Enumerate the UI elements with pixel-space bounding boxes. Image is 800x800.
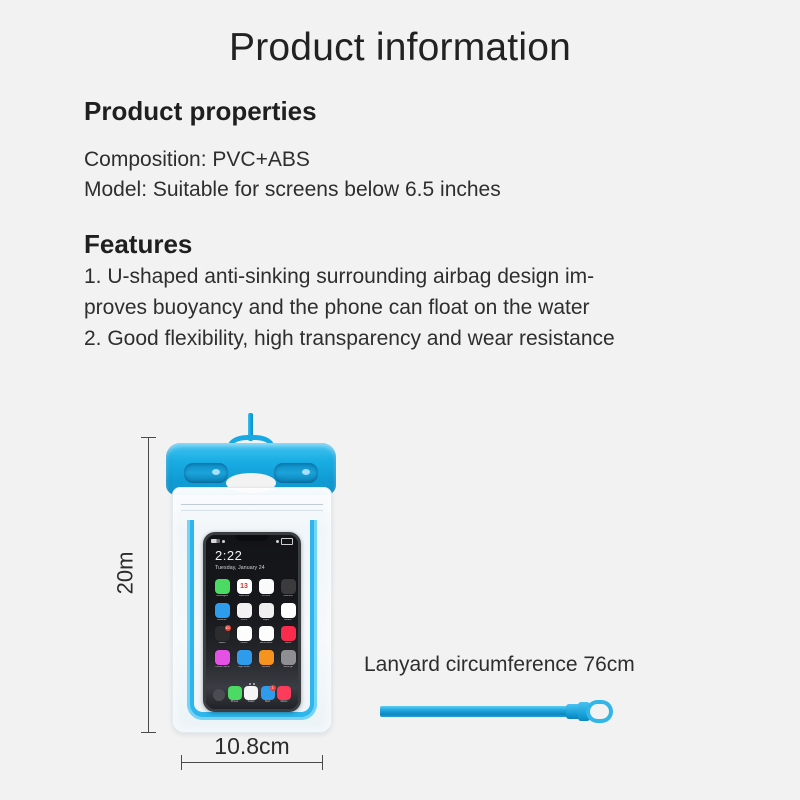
width-dimension-line [181,762,323,763]
app-label: Settings [279,666,297,669]
phone-status-bar [211,538,293,544]
app-icon-reminders[interactable]: Reminders [257,626,275,645]
app-glyph [237,626,252,641]
dock-label: Phone [228,701,242,704]
app-glyph [259,650,274,665]
notification-badge: 10 [225,625,231,631]
app-label: Wallet [213,642,231,645]
app-icon-photos[interactable]: Photos [257,579,275,598]
app-grid: Messages13CalendarPhotosCameraWeatherClo… [213,579,297,668]
app-glyph [215,603,230,618]
phone-screen: 2:22 Tuesday, January 24 Messages13Calen… [206,535,298,709]
app-icon-calendar[interactable]: 13Calendar [235,579,253,598]
smartphone: 2:22 Tuesday, January 24 Messages13Calen… [203,532,301,712]
app-glyph [215,650,230,665]
height-dimension-label: 20m [112,552,138,595]
app-label: News [279,642,297,645]
dock-icon-mail[interactable]: 3Mail [261,686,275,703]
app-icon-wallet[interactable]: 10Wallet [213,626,231,645]
strap-band [380,706,575,717]
feature-1-line-1: 1. U-shaped anti-sinking surrounding air… [84,265,594,289]
app-icon-clock[interactable]: Clock [235,603,253,622]
dock-glyph: 3 [261,686,275,700]
app-icon-settings[interactable]: Settings [279,650,297,669]
app-icon-health[interactable]: Health [279,603,297,622]
product-information-page: Product information Product properties C… [0,0,800,800]
lanyard-strap [380,697,610,727]
battery-icon [281,538,293,545]
app-glyph: 10 [215,626,230,641]
app-glyph [281,650,296,665]
dock-label: Music [277,701,291,704]
dock-label: Mail [261,701,275,704]
app-label: Weather [213,619,231,622]
app-glyph [237,650,252,665]
feature-1-line-2: proves buoyancy and the phone can float … [84,296,590,320]
phone-dock: PhoneSafari3MailMusic [211,685,293,705]
app-label: Camera [279,595,297,598]
app-label: Notes [235,642,253,645]
app-label: Clock [235,619,253,622]
app-icon-ibooks[interactable]: iBooks [257,650,275,669]
app-glyph [281,626,296,641]
app-label: iTunes Store [213,666,231,669]
section-heading-properties: Product properties [84,96,317,127]
app-icon-weather[interactable]: Weather [213,603,231,622]
dock-glyph [277,686,291,700]
app-icon-messages[interactable]: Messages [213,579,231,598]
feature-2: 2. Good flexibility, high transparency a… [84,327,615,351]
pouch-seam-top [181,504,323,505]
dock-icon-music[interactable]: Music [277,686,291,703]
app-glyph [259,603,274,618]
property-model: Model: Suitable for screens below 6.5 in… [84,178,501,202]
app-glyph [281,603,296,618]
app-icon-itunes-store[interactable]: iTunes Store [213,650,231,669]
app-glyph [259,579,274,594]
app-label: Reminders [257,642,275,645]
section-heading-features: Features [84,229,192,260]
dock-glyph [228,686,242,700]
property-composition: Composition: PVC+ABS [84,148,310,172]
pouch-seam-second [181,510,323,511]
app-icon-news[interactable]: News [279,626,297,645]
lanyard-label: Lanyard circumference 76cm [364,653,635,677]
dock-glyph [244,686,258,700]
app-glyph [281,579,296,594]
bluetooth-icon [276,540,279,543]
clip-hook-icon [586,700,613,723]
waterproof-phone-bag: 2:22 Tuesday, January 24 Messages13Calen… [166,413,336,733]
app-glyph [215,579,230,594]
app-label: Calendar [235,595,253,598]
app-label: Health [279,619,297,622]
app-label: App Store [235,666,253,669]
dock-label: Safari [244,701,258,704]
app-label: Messages [213,595,231,598]
app-icon-camera[interactable]: Camera [279,579,297,598]
page-title: Product information [0,26,800,70]
transparent-pouch: 2:22 Tuesday, January 24 Messages13Calen… [172,487,332,733]
lockscreen-date: Tuesday, January 24 [215,565,265,571]
app-label: Photos [257,595,275,598]
lockscreen-time: 2:22 [215,549,242,562]
wifi-icon [222,540,225,543]
latch-right-icon [274,463,318,483]
dock-icon-phone[interactable]: Phone [228,686,242,703]
app-glyph [237,603,252,618]
height-dimension-line [148,437,149,733]
app-icon-maps[interactable]: Maps [257,603,275,622]
signal-icon [211,539,220,543]
width-dimension-label: 10.8cm [181,733,323,760]
home-button-icon[interactable] [213,689,225,701]
app-glyph: 13 [237,579,252,594]
notification-badge: 3 [270,685,276,691]
app-icon-notes[interactable]: Notes [235,626,253,645]
latch-left-icon [184,463,228,483]
app-label: iBooks [257,666,275,669]
app-label: Maps [257,619,275,622]
app-glyph [259,626,274,641]
app-icon-app-store[interactable]: App Store [235,650,253,669]
dock-icon-safari[interactable]: Safari [244,686,258,703]
